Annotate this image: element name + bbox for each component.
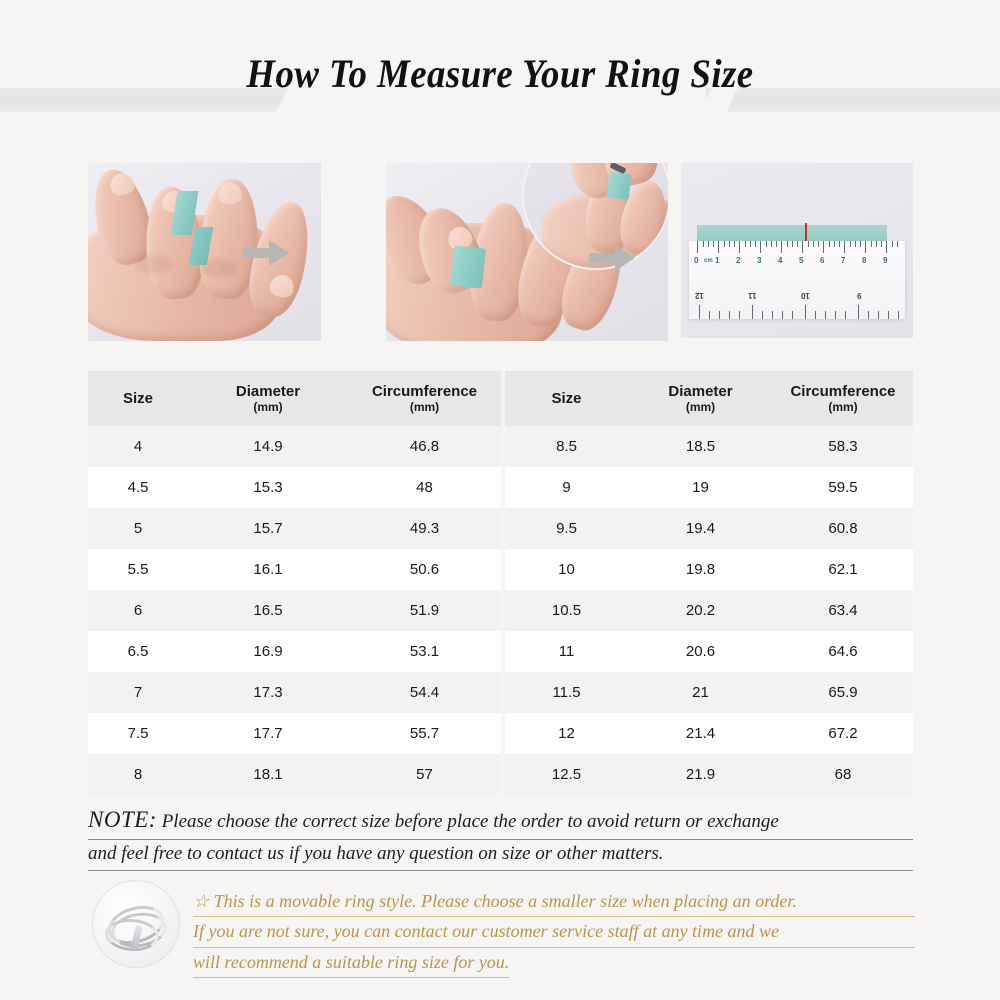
cell-size-right: 12.5 (503, 754, 628, 795)
cell-diameter-left: 14.9 (188, 426, 348, 467)
cell-circumference-right: 62.1 (773, 549, 913, 590)
table-header-row: Size Diameter (mm) Circumference (mm) Si… (88, 371, 913, 426)
cell-size-right: 9 (503, 467, 628, 508)
cell-circumference-right: 59.5 (773, 467, 913, 508)
cell-diameter-left: 16.5 (188, 590, 348, 631)
ring-size-table: Size Diameter (mm) Circumference (mm) Si… (88, 371, 913, 795)
note-line-2: and feel free to contact us if you have … (88, 840, 913, 871)
cell-diameter-left: 16.9 (188, 631, 348, 672)
warning-block: ☆ This is a movable ring style. Please c… (193, 887, 915, 978)
cell-size-right: 9.5 (503, 508, 628, 549)
paper-strip-band (450, 245, 486, 288)
cell-diameter-right: 19.4 (628, 508, 773, 549)
cell-diameter-right: 19 (628, 467, 773, 508)
cell-diameter-left: 18.1 (188, 754, 348, 795)
cell-circumference-right: 68 (773, 754, 913, 795)
cell-circumference-left: 57 (348, 754, 503, 795)
table-row: 8 18.1 57 12.5 21.9 68 (88, 754, 913, 795)
cell-size-left: 7.5 (88, 713, 188, 754)
cell-circumference-left: 53.1 (348, 631, 503, 672)
cell-circumference-left: 46.8 (348, 426, 503, 467)
header-size-right: Size (503, 371, 628, 426)
cell-circumference-left: 50.6 (348, 549, 503, 590)
cell-circumference-right: 63.4 (773, 590, 913, 631)
cell-circumference-left: 55.7 (348, 713, 503, 754)
table-row: 6 16.5 51.9 10.5 20.2 63.4 (88, 590, 913, 631)
step-3-photo: 0 cm 1 2 3 4 5 6 7 8 9 (681, 163, 913, 338)
table-row: 5 15.7 49.3 9.5 19.4 60.8 (88, 508, 913, 549)
measured-strip (697, 225, 887, 241)
header-size-left: Size (88, 371, 188, 426)
cell-size-right: 11.5 (503, 672, 628, 713)
cell-diameter-right: 20.6 (628, 631, 773, 672)
steps-illustration-row: 0 cm 1 2 3 4 5 6 7 8 9 (0, 163, 1000, 343)
arrow-step-1-to-2 (243, 240, 289, 266)
cell-diameter-right: 18.5 (628, 426, 773, 467)
table-row: 4.5 15.3 48 9 19 59.5 (88, 467, 913, 508)
table-row: 6.5 16.9 53.1 11 20.6 64.6 (88, 631, 913, 672)
cell-size-left: 6 (88, 590, 188, 631)
cell-size-right: 11 (503, 631, 628, 672)
cell-size-left: 6.5 (88, 631, 188, 672)
cell-circumference-right: 58.3 (773, 426, 913, 467)
cell-circumference-left: 49.3 (348, 508, 503, 549)
cell-circumference-left: 54.4 (348, 672, 503, 713)
cell-diameter-right: 19.8 (628, 549, 773, 590)
cell-diameter-left: 15.7 (188, 508, 348, 549)
table-row: 5.5 16.1 50.6 10 19.8 62.1 (88, 549, 913, 590)
note-line-1: NOTE: Please choose the correct size bef… (88, 803, 913, 840)
cell-diameter-right: 21 (628, 672, 773, 713)
warning-line-1: ☆ This is a movable ring style. Please c… (193, 887, 915, 917)
note-text-1: Please choose the correct size before pl… (157, 811, 779, 832)
cell-diameter-right: 21.4 (628, 713, 773, 754)
cell-size-left: 4 (88, 426, 188, 467)
warning-line-2: If you are not sure, you can contact our… (193, 917, 915, 947)
cell-diameter-left: 17.7 (188, 713, 348, 754)
cell-diameter-left: 17.3 (188, 672, 348, 713)
cell-circumference-right: 65.9 (773, 672, 913, 713)
header-diameter-right: Diameter (mm) (628, 371, 773, 426)
movable-ring-photo (92, 880, 180, 968)
note-block: NOTE: Please choose the correct size bef… (88, 803, 913, 871)
warning-line-3: will recommend a suitable ring size for … (193, 948, 509, 978)
cell-circumference-left: 48 (348, 467, 503, 508)
cell-circumference-right: 67.2 (773, 713, 913, 754)
cell-size-left: 7 (88, 672, 188, 713)
cell-circumference-right: 60.8 (773, 508, 913, 549)
cell-size-right: 12 (503, 713, 628, 754)
cell-diameter-right: 21.9 (628, 754, 773, 795)
header-diameter-left: Diameter (mm) (188, 371, 348, 426)
cell-size-left: 4.5 (88, 467, 188, 508)
cell-diameter-left: 16.1 (188, 549, 348, 590)
cell-size-left: 5.5 (88, 549, 188, 590)
cell-size-left: 8 (88, 754, 188, 795)
note-label: NOTE: (88, 807, 157, 832)
cell-size-right: 10 (503, 549, 628, 590)
cell-diameter-right: 20.2 (628, 590, 773, 631)
ruler: 0 cm 1 2 3 4 5 6 7 8 9 (689, 241, 905, 319)
cell-size-right: 8.5 (503, 426, 628, 467)
cell-size-right: 10.5 (503, 590, 628, 631)
cell-size-left: 5 (88, 508, 188, 549)
page-title: How To Measure Your Ring Size (40, 50, 960, 97)
cell-diameter-left: 15.3 (188, 467, 348, 508)
table-row: 4 14.9 46.8 8.5 18.5 58.3 (88, 426, 913, 467)
arrow-step-2-to-3 (589, 245, 635, 271)
header-circumference-right: Circumference (mm) (773, 371, 913, 426)
table-row: 7.5 17.7 55.7 12 21.4 67.2 (88, 713, 913, 754)
header-circumference-left: Circumference (mm) (348, 371, 503, 426)
table-row: 7 17.3 54.4 11.5 21 65.9 (88, 672, 913, 713)
cell-circumference-left: 51.9 (348, 590, 503, 631)
cell-circumference-right: 64.6 (773, 631, 913, 672)
